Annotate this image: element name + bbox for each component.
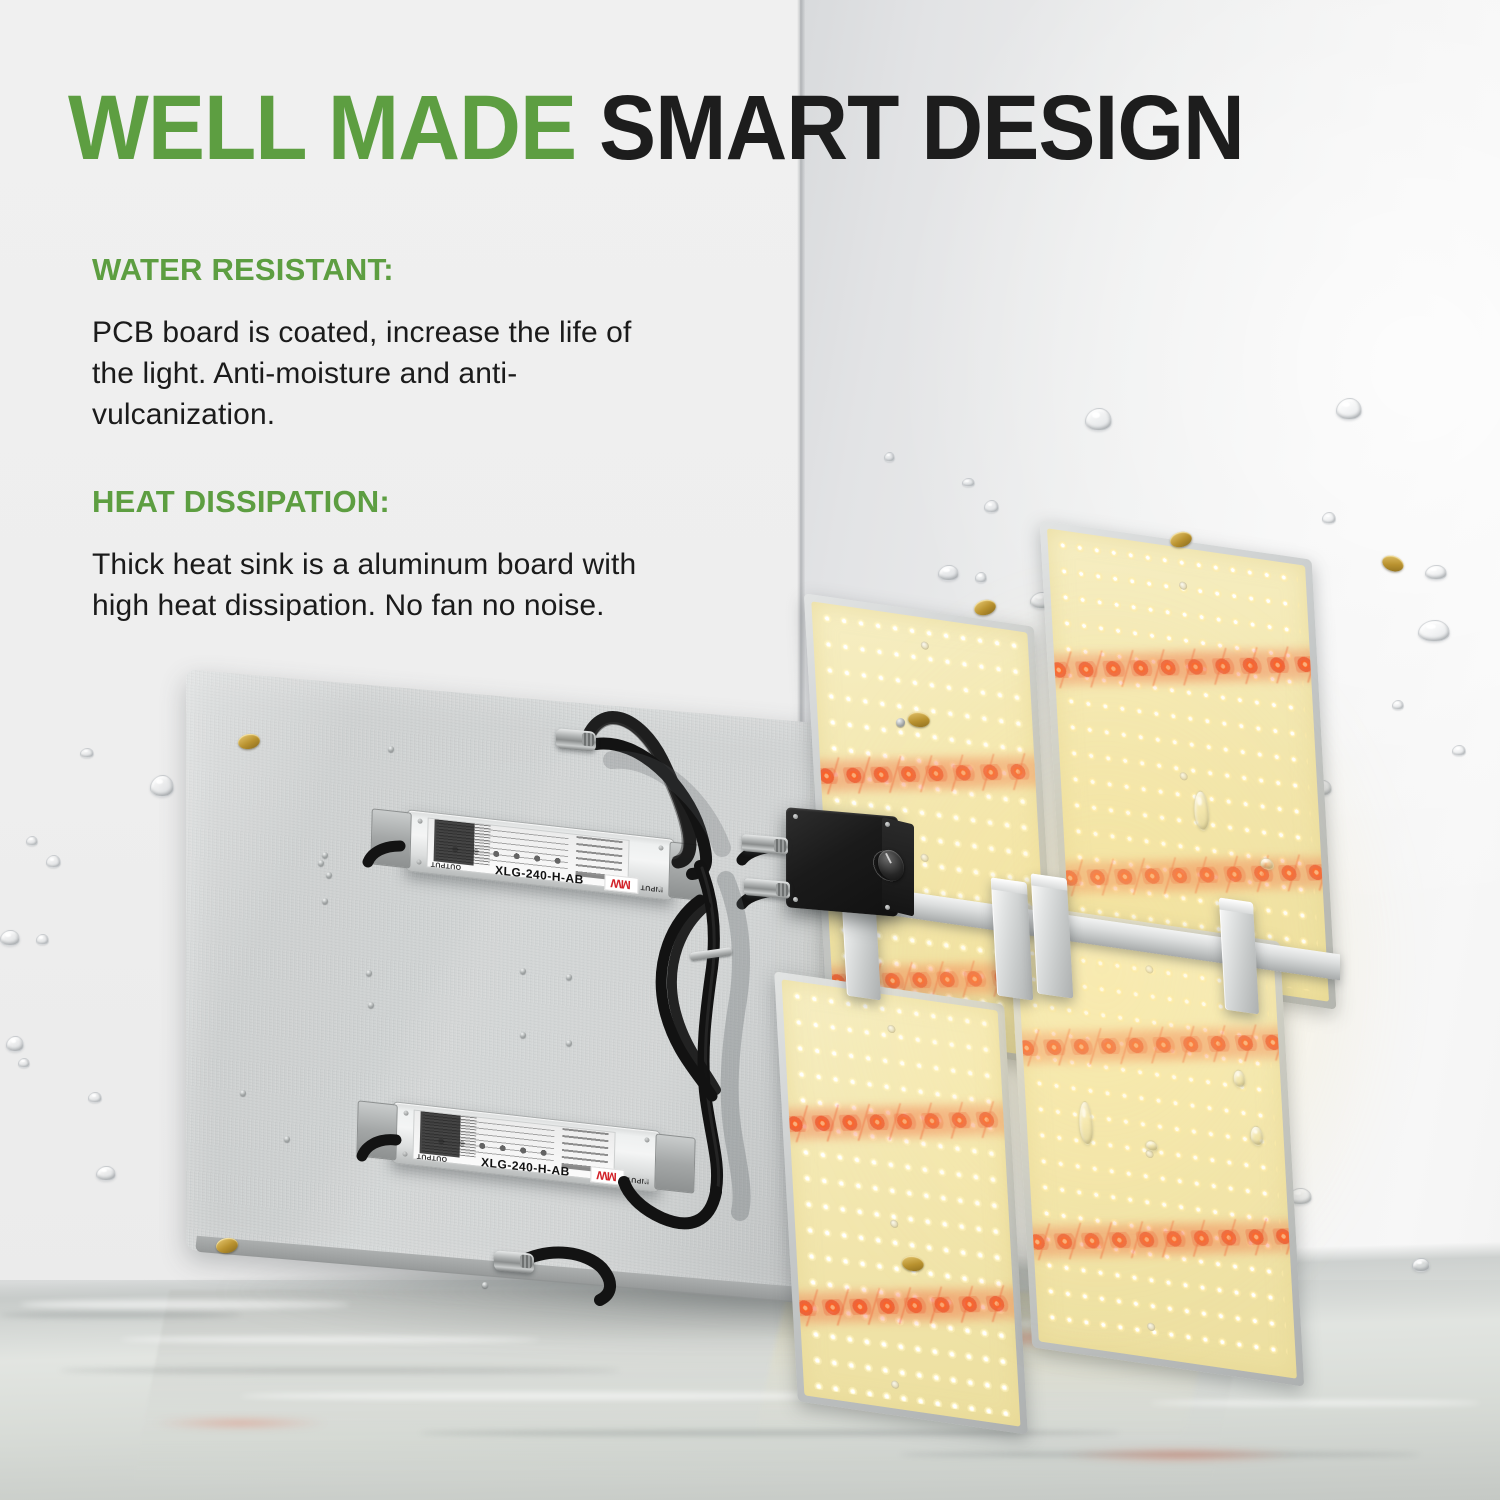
cable-to-bottom-driver [624, 1182, 716, 1223]
cable-gland-top [556, 728, 596, 751]
dimmer-screw [885, 905, 890, 910]
cable-driver-top-pigtail [368, 846, 400, 862]
dimmer-control-box[interactable] [786, 807, 898, 917]
cable-gland-bottom [494, 1250, 534, 1273]
product-photo: XLG-240-H-AB MW OUTPUT INPUT XLG-240-H-A… [0, 0, 1500, 1500]
cable-driver-bottom-pigtail [362, 1140, 396, 1156]
dimmer-screw [793, 814, 798, 819]
power-cable-group [0, 0, 1500, 1500]
dimmer-screw [793, 897, 798, 902]
dimmer-screw [885, 822, 890, 827]
